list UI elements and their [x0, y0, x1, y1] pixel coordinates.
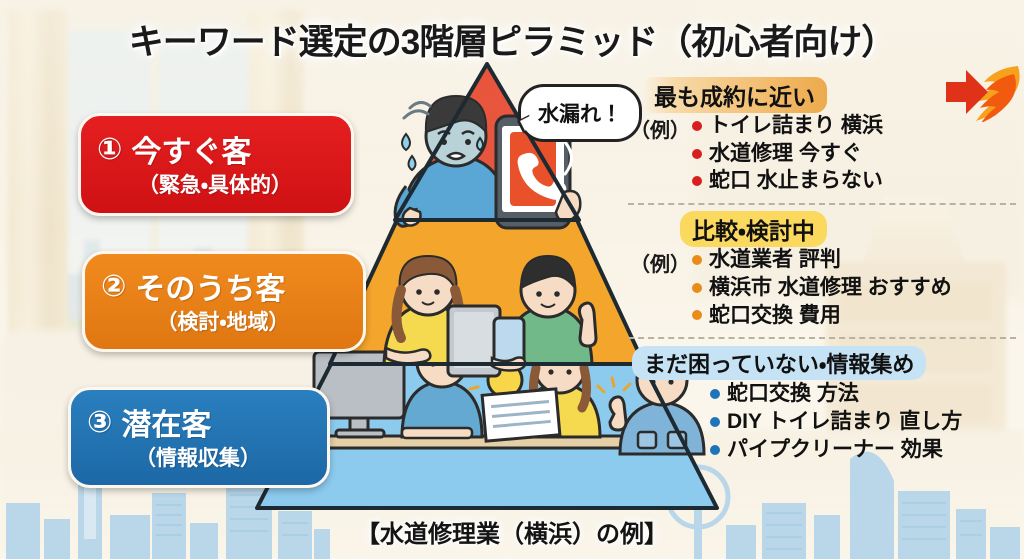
tier-1-name: 今すぐ客	[131, 127, 251, 171]
bullet-icon	[692, 149, 702, 159]
speech-bubble: 水漏れ！	[518, 84, 642, 142]
keyword-section-1: 最も成約に近い （例） トイレ詰まり 横浜 水道修理 今すぐ	[628, 78, 1016, 195]
middle-scene	[384, 256, 596, 376]
section-3-rows: 蛇口交換 方法 DIY トイレ詰まり 直し方 パイプクリーナー 効果	[628, 380, 1016, 463]
list-item[interactable]: 蛇口 水止まらない	[692, 167, 1016, 195]
bullet-icon	[710, 389, 720, 399]
keyword-text: パイプクリーナー 効果	[727, 436, 943, 464]
list-item[interactable]: 水道修理 今すぐ	[692, 140, 1016, 168]
keyword-text: 水道業者 評判	[709, 246, 841, 274]
section-3-heading: まだ困っていない・情報集め	[632, 346, 926, 380]
section-2-rows: （例） 水道業者 評判 横浜市 水道修理 おすすめ 蛇口交換 費用	[628, 246, 1016, 329]
keyword-text: トイレ詰まり 横浜	[709, 112, 883, 140]
tier-3-number: ③	[87, 405, 112, 440]
bullet-icon	[692, 121, 702, 131]
list-item[interactable]: パイプクリーナー 効果	[710, 436, 1016, 464]
page-title: キーワード選定の3階層ピラミッド（初心者向け）	[0, 14, 1024, 65]
bullet-icon	[710, 445, 720, 455]
list-item[interactable]: 水道業者 評判	[692, 246, 1016, 274]
section-2-heading: 比較・検討中	[680, 211, 827, 247]
tier-2-subtitle: （検討・地域）	[101, 306, 345, 336]
tier-1-number: ①	[97, 132, 122, 167]
keyword-text: 水道修理 今すぐ	[709, 140, 862, 168]
section-2-example-label: （例）	[630, 248, 690, 277]
tier-2-name: そのうち客	[135, 264, 285, 308]
list-item[interactable]: トイレ詰まり 横浜	[692, 112, 1016, 140]
tier-2-number: ②	[101, 269, 126, 304]
section-1-header: 最も成約に近い	[628, 78, 1016, 112]
section-1-items: トイレ詰まり 横浜 水道修理 今すぐ 蛇口 水止まらない	[692, 112, 1016, 195]
tier-badge-2[interactable]: ② そのうち客 （検討・地域）	[82, 251, 366, 352]
bullet-icon	[692, 310, 702, 320]
keyword-panel: 最も成約に近い （例） トイレ詰まり 横浜 水道修理 今すぐ	[628, 78, 1016, 463]
list-item[interactable]: DIY トイレ詰まり 直し方	[710, 408, 1016, 436]
list-item[interactable]: 蛇口交換 費用	[692, 302, 1016, 330]
bullet-icon	[692, 255, 702, 265]
tier-1-subtitle: （緊急・具体的）	[97, 169, 333, 199]
tier-3-subtitle: （情報収集）	[87, 442, 309, 472]
keyword-text: 蛇口交換 費用	[709, 302, 841, 330]
section-3-items: 蛇口交換 方法 DIY トイレ詰まり 直し方 パイプクリーナー 効果	[710, 380, 1016, 463]
keyword-section-3: まだ困っていない・情報集め 蛇口交換 方法 DIY トイレ詰まり 直し方 パ	[628, 337, 1016, 463]
bullet-icon	[692, 176, 702, 186]
section-1-rows: （例） トイレ詰まり 横浜 水道修理 今すぐ 蛇口 水止まらない	[628, 112, 1016, 195]
section-2-items: 水道業者 評判 横浜市 水道修理 おすすめ 蛇口交換 費用	[692, 246, 1016, 329]
section-1-heading: 最も成約に近い	[642, 77, 827, 113]
tier-3-name: 潜在客	[121, 400, 211, 444]
infographic-canvas: キーワード選定の3階層ピラミッド（初心者向け）	[0, 0, 1024, 559]
bullet-icon	[710, 417, 720, 427]
speech-bubble-text: 水漏れ！	[538, 98, 622, 128]
list-item[interactable]: 横浜市 水道修理 おすすめ	[692, 274, 1016, 302]
footer-caption: 【水道修理業（横浜）の例】	[0, 514, 1024, 549]
keyword-text: 蛇口交換 方法	[727, 380, 859, 408]
keyword-text: 横浜市 水道修理 おすすめ	[709, 274, 952, 302]
section-2-header: 比較・検討中	[628, 212, 1016, 246]
section-1-example-label: （例）	[630, 114, 690, 143]
tier-badge-1[interactable]: ① 今すぐ客 （緊急・具体的）	[78, 113, 354, 216]
keyword-text: 蛇口 水止まらない	[709, 167, 883, 195]
tier-badge-3[interactable]: ③ 潜在客 （情報収集）	[68, 387, 330, 488]
section-3-header: まだ困っていない・情報集め	[628, 346, 1016, 380]
keyword-text: DIY トイレ詰まり 直し方	[727, 408, 962, 436]
bullet-icon	[692, 283, 702, 293]
list-item[interactable]: 蛇口交換 方法	[710, 380, 1016, 408]
keyword-section-2: 比較・検討中 （例） 水道業者 評判 横浜市 水道修理 おすすめ 蛇口交換 費	[628, 203, 1016, 329]
